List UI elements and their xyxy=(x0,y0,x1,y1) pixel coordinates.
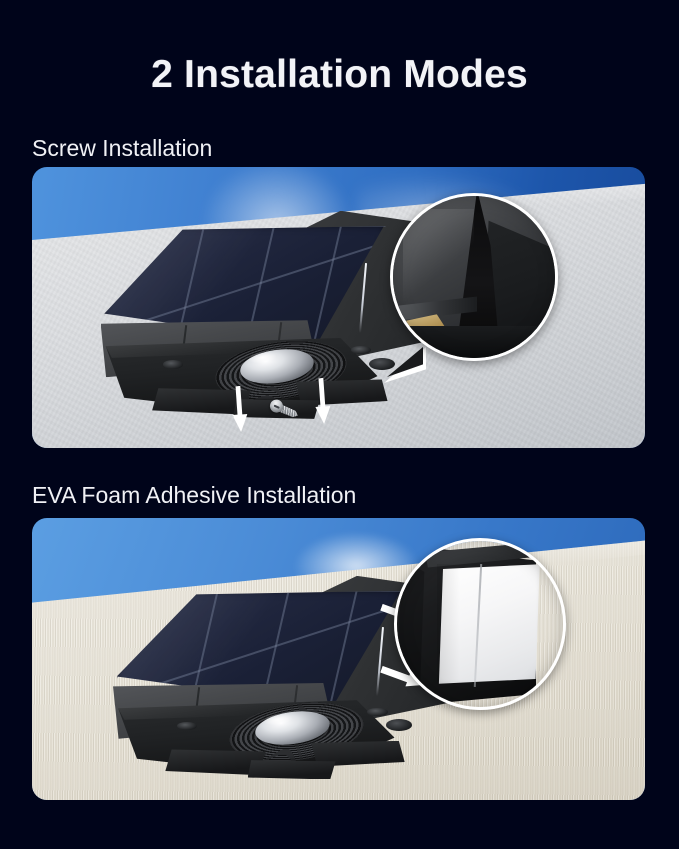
mounting-tab xyxy=(248,760,338,779)
led-indicator xyxy=(177,722,198,731)
photo-panel-eva-foam-adhesive-installation xyxy=(32,518,645,800)
pad-shadow xyxy=(437,564,460,684)
section-label-screw-installation: Screw Installation xyxy=(32,137,212,160)
shadow-area xyxy=(393,326,555,361)
adjust-knob xyxy=(386,719,412,731)
photo-panel-screw-installation xyxy=(32,167,645,448)
led-indicator xyxy=(351,346,371,355)
adjust-knob xyxy=(369,358,395,370)
led-indicator xyxy=(163,360,183,369)
gloss-highlight xyxy=(403,209,474,303)
callout-eva-foam-pad-detail xyxy=(394,538,566,710)
callout-screw-mount-detail xyxy=(390,193,558,361)
page-title: 2 Installation Modes xyxy=(0,55,679,94)
infographic-page: 2 Installation Modes Screw Installation xyxy=(0,0,679,849)
led-indicator xyxy=(367,708,388,717)
section-label-eva-foam-adhesive-installation: EVA Foam Adhesive Installation xyxy=(32,484,356,507)
